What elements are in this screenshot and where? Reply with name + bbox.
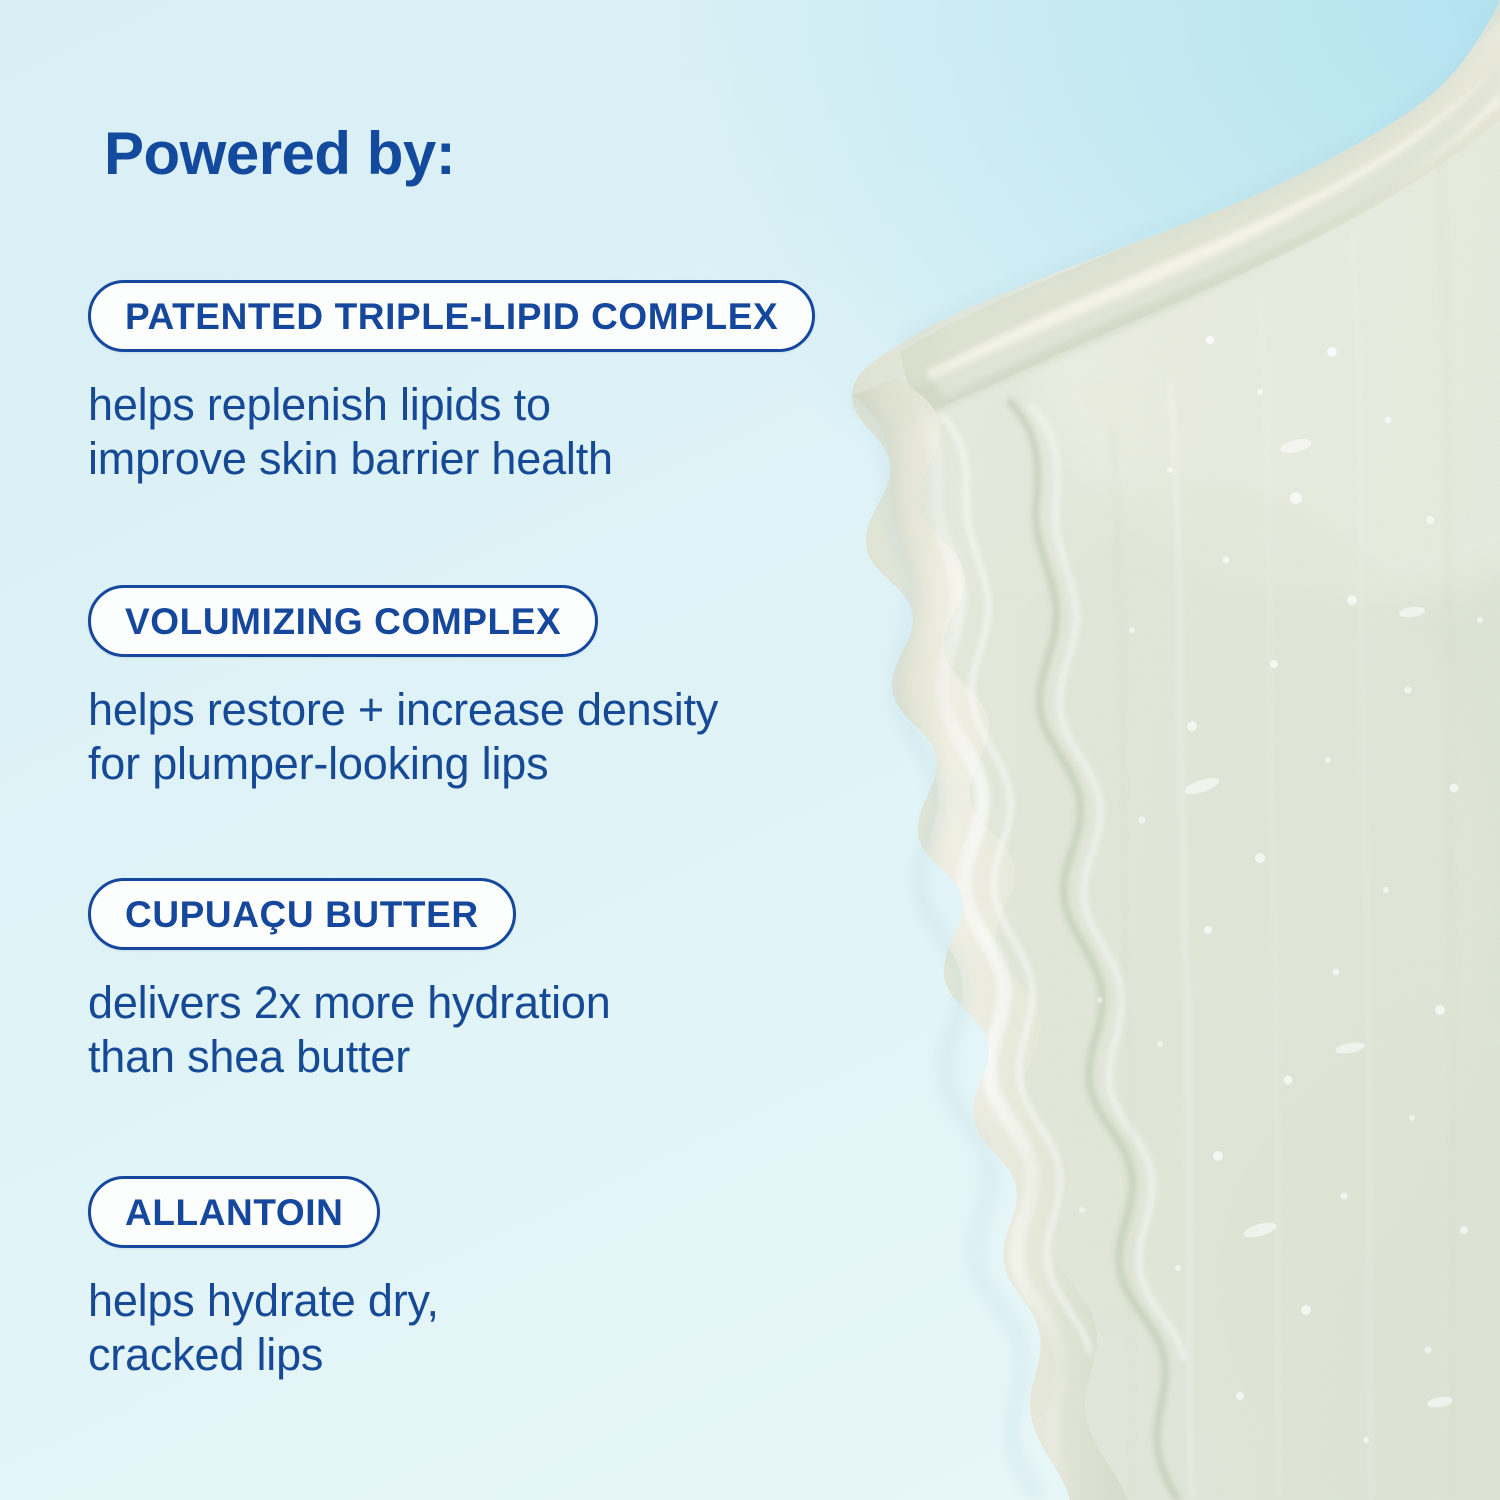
ingredient-description-2: helps restore + increase density for plu… bbox=[88, 683, 718, 791]
ingredient-block-4: ALLANTOIN helps hydrate dry, cracked lip… bbox=[88, 1176, 439, 1382]
ingredient-description-3: delivers 2x more hydration than shea but… bbox=[88, 976, 611, 1084]
ingredient-badge-volumizing-complex: VOLUMIZING COMPLEX bbox=[88, 585, 598, 657]
product-benefits-panel: Powered by: PATENTED TRIPLE-LIPID COMPLE… bbox=[0, 0, 1500, 1500]
ingredient-badge-patented-triple-lipid-complex: PATENTED TRIPLE-LIPID COMPLEX bbox=[88, 280, 815, 352]
ingredient-badge-cupuacu-butter: CUPUAÇU BUTTER bbox=[88, 878, 516, 950]
ingredient-badge-allantoin: ALLANTOIN bbox=[88, 1176, 380, 1248]
benefits-content: Powered by: PATENTED TRIPLE-LIPID COMPLE… bbox=[0, 0, 1100, 1500]
ingredient-block-2: VOLUMIZING COMPLEX helps restore + incre… bbox=[88, 585, 718, 791]
ingredient-block-3: CUPUAÇU BUTTER delivers 2x more hydratio… bbox=[88, 878, 611, 1084]
ingredient-description-4: helps hydrate dry, cracked lips bbox=[88, 1274, 439, 1382]
page-title: Powered by: bbox=[104, 124, 455, 184]
ingredient-description-1: helps replenish lipids to improve skin b… bbox=[88, 378, 815, 486]
ingredient-block-1: PATENTED TRIPLE-LIPID COMPLEX helps repl… bbox=[88, 280, 815, 486]
